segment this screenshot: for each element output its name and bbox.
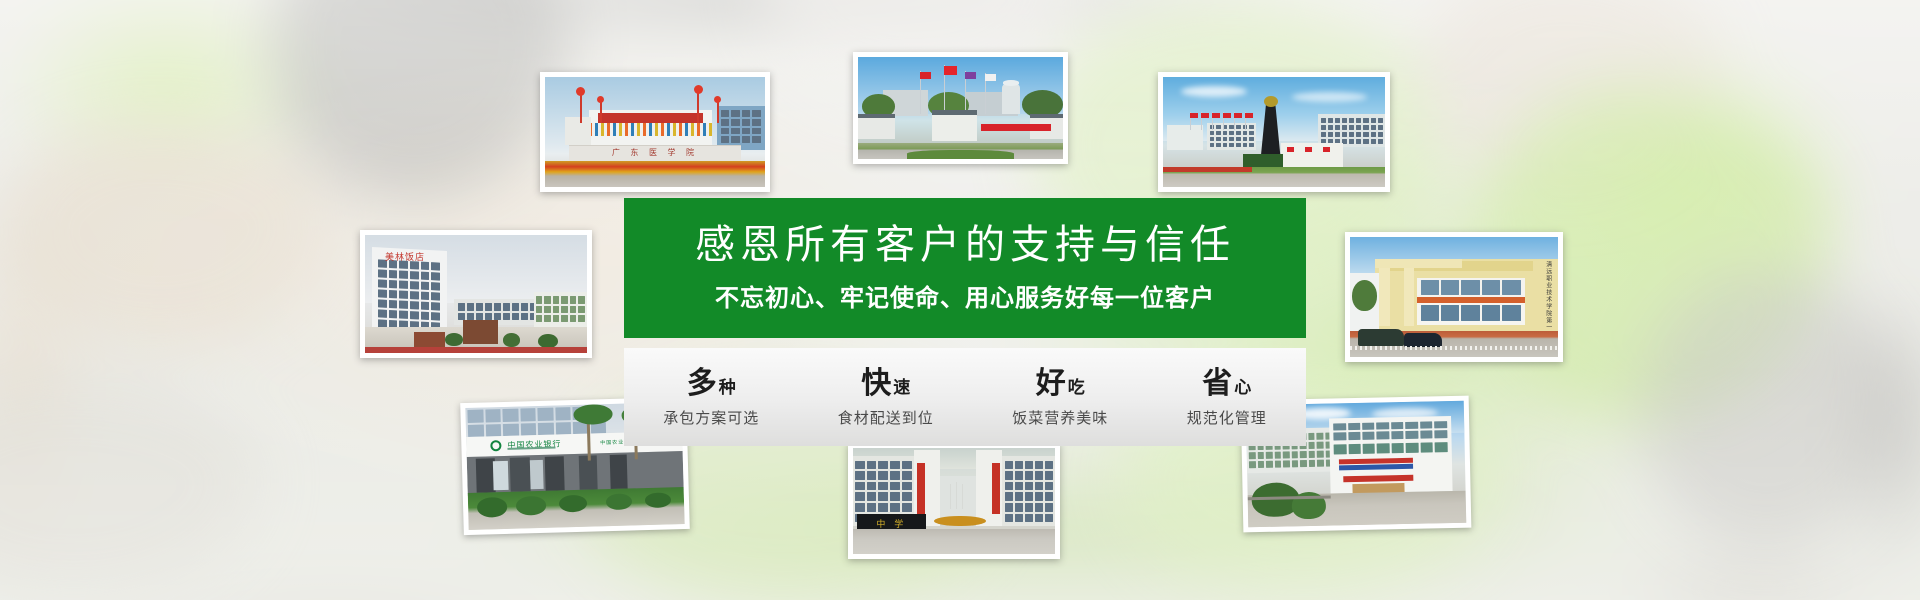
feature-strip: 多种 承包方案可选 快速 食材配送到位 好吃 饭菜营养美味 省心 规范化管理 (624, 348, 1306, 446)
feature-keyword-suffix: 心 (1234, 378, 1251, 397)
feature-heading: 好吃 (1012, 369, 1108, 399)
green-headline-bar: 感恩所有客户的支持与信任 不忘初心、牢记使命、用心服务好每一位客户 (624, 198, 1306, 338)
feature-item-shengxin[interactable]: 省心 规范化管理 (1187, 369, 1267, 426)
feature-heading: 省心 (1187, 369, 1267, 399)
photo-qingyuan-polytechnic-canteen[interactable]: 清远职业技术学院第一食堂 (1345, 232, 1563, 362)
banner-headline: 感恩所有客户的支持与信任 (695, 225, 1235, 265)
feature-keyword: 快 (861, 367, 891, 400)
feature-description: 饭菜营养美味 (1012, 411, 1108, 426)
feature-keyword-suffix: 速 (893, 378, 910, 397)
feature-keyword: 好 (1036, 367, 1066, 400)
photo-image: 中 学 (853, 448, 1055, 554)
photo-image (1163, 77, 1385, 187)
photo-middle-school-campus[interactable]: 中 学 (848, 443, 1060, 559)
feature-item-kuaisu[interactable]: 快速 食材配送到位 (838, 369, 934, 426)
photo-industrial-park-gate[interactable] (1158, 72, 1390, 192)
photo-image (858, 57, 1063, 159)
promo-banner: 广 东 医 学 院 (0, 0, 1920, 600)
feature-description: 承包方案可选 (663, 411, 759, 426)
feature-item-duozhong[interactable]: 多种 承包方案可选 (663, 369, 759, 426)
photo-caption: 美林饭店 (385, 250, 425, 263)
banner-subheadline: 不忘初心、牢记使命、用心服务好每一位客户 (715, 287, 1215, 311)
photo-image: 广 东 医 学 院 (545, 77, 765, 187)
photo-image: 清远职业技术学院第一食堂 (1350, 237, 1558, 357)
feature-heading: 多种 (663, 369, 759, 399)
feature-item-haochi[interactable]: 好吃 饭菜营养美味 (1012, 369, 1108, 426)
photo-campus-main-gate-flags[interactable] (853, 52, 1068, 164)
photo-image: 美林饭店 (365, 235, 587, 353)
feature-keyword-suffix: 吃 (1068, 378, 1085, 397)
feature-keyword: 多 (687, 367, 717, 400)
feature-keyword: 省 (1202, 367, 1232, 400)
photo-meilin-hotel-complex[interactable]: 美林饭店 (360, 230, 592, 358)
feature-keyword-suffix: 种 (719, 378, 736, 397)
feature-heading: 快速 (838, 369, 934, 399)
photo-guangdong-medical-college[interactable]: 广 东 医 学 院 (540, 72, 770, 192)
feature-description: 规范化管理 (1187, 411, 1267, 426)
feature-description: 食材配送到位 (838, 411, 934, 426)
photo-caption: 广 东 医 学 院 (569, 147, 741, 158)
